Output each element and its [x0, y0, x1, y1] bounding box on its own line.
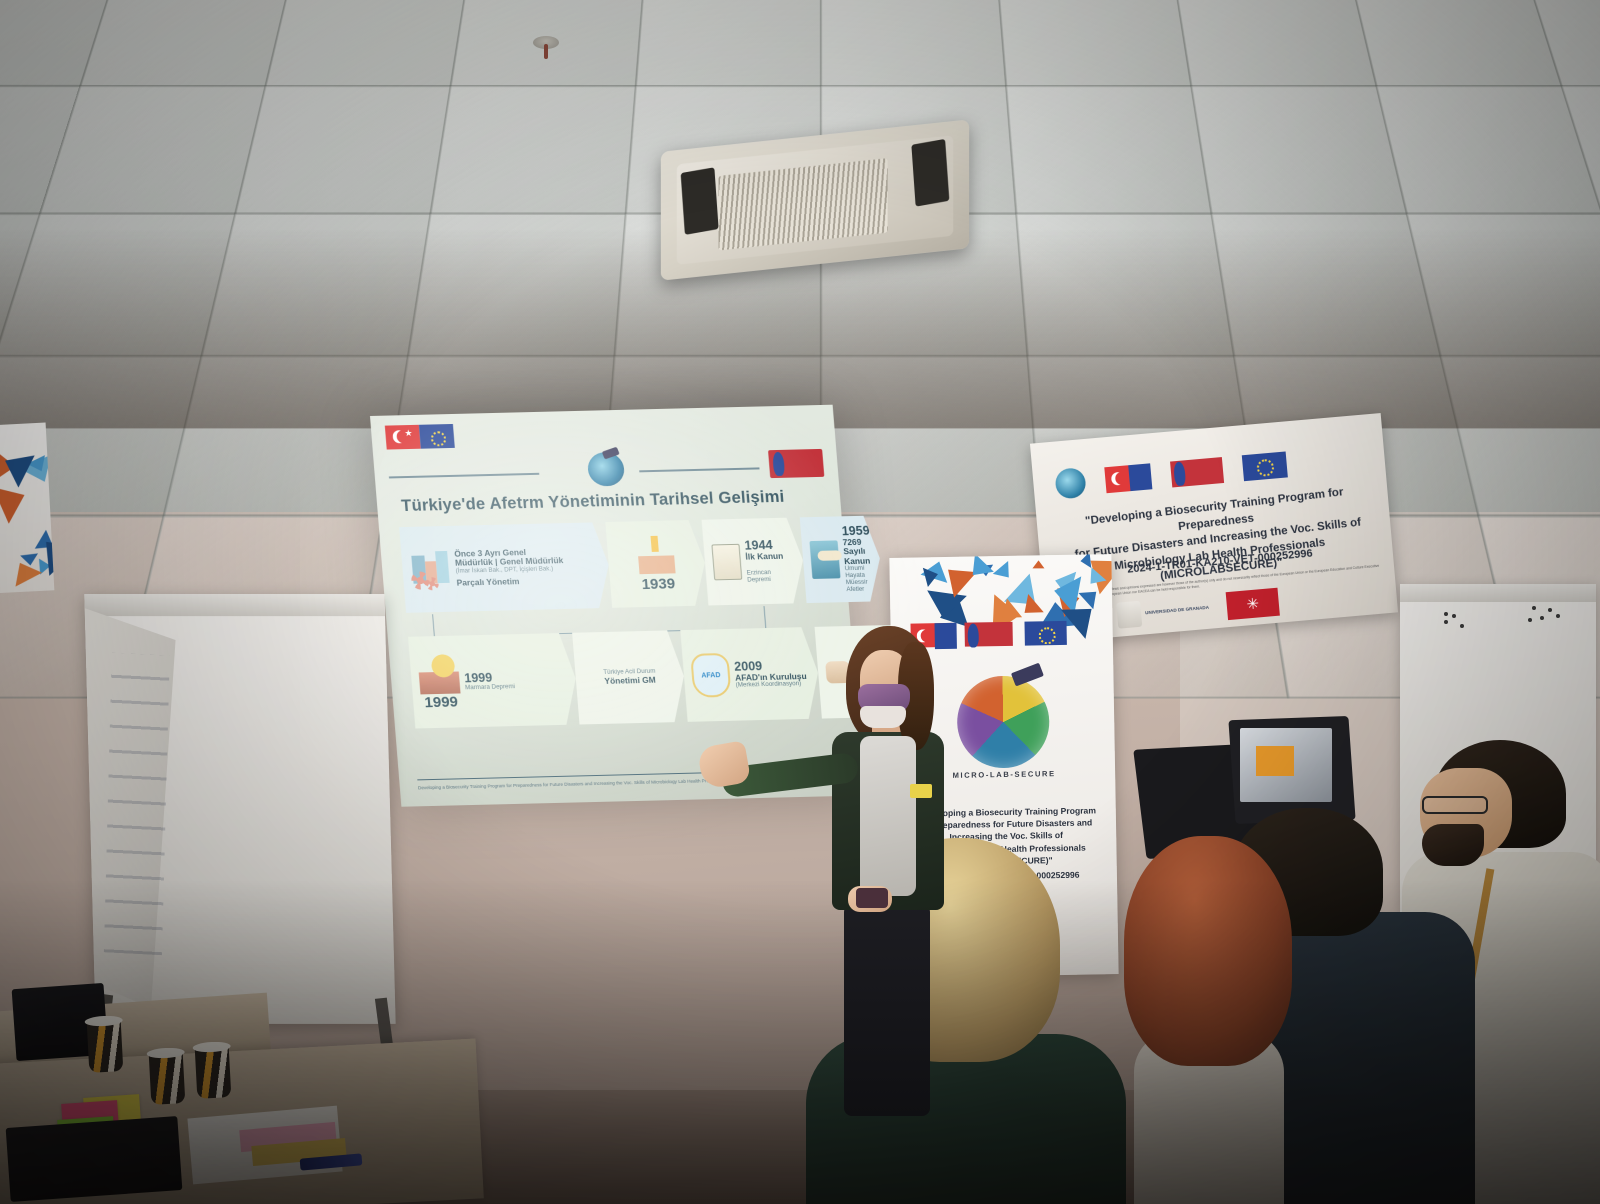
- slide-flags: [385, 424, 455, 450]
- pin-mark: [1452, 614, 1456, 618]
- ceiling-tile: [820, 0, 1007, 87]
- presenter-trousers: [844, 904, 930, 1116]
- fire-sprinkler-icon: [533, 36, 559, 62]
- project-globe-logo-icon: [1054, 467, 1087, 500]
- presenter-name-badge: [910, 784, 932, 798]
- pin-mark: [1532, 606, 1536, 610]
- paper-coffee-cup: [149, 1051, 186, 1105]
- slide-header-logos: [388, 449, 825, 494]
- afad-shield-icon: AFAD: [690, 653, 732, 698]
- ceiling-tile: [1190, 85, 1408, 215]
- pin-mark: [1540, 616, 1544, 620]
- item4-sub: Umumi Hayata Müessir Afetler: [845, 566, 875, 594]
- pin-mark: [1548, 608, 1552, 612]
- afad-label: AFAD: [701, 672, 721, 679]
- conference-room-photo: Türkiye'de Afetrm Yönetiminin Tarihsel G…: [0, 0, 1600, 1204]
- item3-heading: İlk Kanun: [745, 552, 795, 563]
- item3-sub: Erzincan Depremi: [747, 569, 797, 584]
- earthquake-icon: [634, 535, 677, 576]
- micro-lab-secure-logo-icon: [956, 675, 1050, 769]
- pin-mark: [1460, 624, 1464, 628]
- buildings-gears-icon: [409, 549, 452, 590]
- presenter-mask-lowered: [860, 706, 906, 728]
- presenter-clicker: [856, 888, 888, 908]
- ceiling-tile: [996, 0, 1193, 87]
- triangle-graphic: [20, 553, 39, 566]
- pin-mark: [1444, 612, 1448, 616]
- ceiling-tile: [1348, 0, 1563, 87]
- triangle-graphic: [1033, 561, 1045, 569]
- law-book-icon: [809, 540, 840, 579]
- institution-red-logo-icon: [768, 449, 824, 478]
- timeline-item-3: 1944 İlk Kanun Erzincan Depremi: [701, 517, 806, 605]
- timeline-item-6: Türkiye Acil Durum Yönetimi GM: [572, 630, 688, 724]
- item4-heading: 7269 Sayılı Kanun: [842, 538, 872, 567]
- project-globe-logo-icon: [587, 452, 626, 487]
- ceiling-tile: [1005, 85, 1213, 215]
- item1-footer: Parçalı Yönetim: [456, 576, 565, 588]
- scroll-document-icon: [711, 544, 742, 581]
- item5-heading: Marmara Depremi: [465, 684, 515, 692]
- pin-mark: [1444, 620, 1448, 624]
- turkey-flag-icon: [385, 425, 421, 450]
- ceiling-tile: [1172, 0, 1378, 87]
- institution-red-logo-icon: [1170, 457, 1224, 487]
- timeline-item-5: 1999 1999 Marmara Depremi: [408, 633, 580, 729]
- timeline-item-2: 1939: [605, 520, 708, 608]
- eu-flag-icon: [419, 424, 455, 449]
- turkey-eu-flag-icon: [1104, 463, 1152, 493]
- flipchart-handwriting: [104, 653, 170, 956]
- ceiling-tile: [429, 85, 637, 215]
- ceiling-tile: [635, 0, 822, 87]
- triangle-graphic: [1079, 554, 1091, 569]
- item5-bigyear: 1999: [420, 693, 461, 711]
- ceiling-tile: [264, 0, 470, 87]
- eu-flag-icon: [1024, 621, 1066, 646]
- left-rollup-banner: [0, 422, 54, 593]
- rollup-triangle-graphics: [889, 554, 1112, 618]
- item1-sub: (İmar İskan Bak., DPT, İçişleri Bak.): [456, 566, 565, 576]
- presenter-shirt: [860, 736, 916, 896]
- item6-heading2: Yönetimi GM: [584, 675, 677, 687]
- timeline-item-1: Önce 3 Ayrı Genel Müdürlük | Genel Müdür…: [399, 522, 612, 613]
- flipchart-left: [84, 594, 395, 1024]
- triangle-graphic: [993, 561, 1017, 584]
- eu-flag-icon: [1242, 451, 1288, 481]
- paper-coffee-cup: [87, 1019, 124, 1073]
- pin-mark: [1556, 614, 1560, 618]
- triangle-graphic: [924, 590, 967, 621]
- ceiling-tile: [234, 85, 452, 215]
- item2-year: 1939: [638, 575, 679, 593]
- universidad-granada-label: UNIVERSIDAD DE GRANADA: [1145, 605, 1209, 616]
- institution-red-logo-icon: [964, 622, 1012, 647]
- ceiling-tile: [79, 0, 294, 87]
- black-folder: [6, 1116, 183, 1202]
- landslide-sun-icon: [417, 653, 460, 694]
- partner-red-asterisk-logo-icon: ✳: [1226, 588, 1280, 620]
- ceiling-tile: [39, 85, 267, 215]
- slide-title: Türkiye'de Afetrm Yönetiminin Tarihsel G…: [401, 488, 786, 516]
- timeline-row-1: Önce 3 Ayrı Genel Müdürlük | Genel Müdür…: [399, 517, 832, 613]
- audience-red-haired-woman: [1100, 836, 1310, 1204]
- crest-logo-icon: [1116, 601, 1142, 629]
- pin-mark: [1528, 618, 1532, 622]
- paper-coffee-cup: [195, 1045, 232, 1099]
